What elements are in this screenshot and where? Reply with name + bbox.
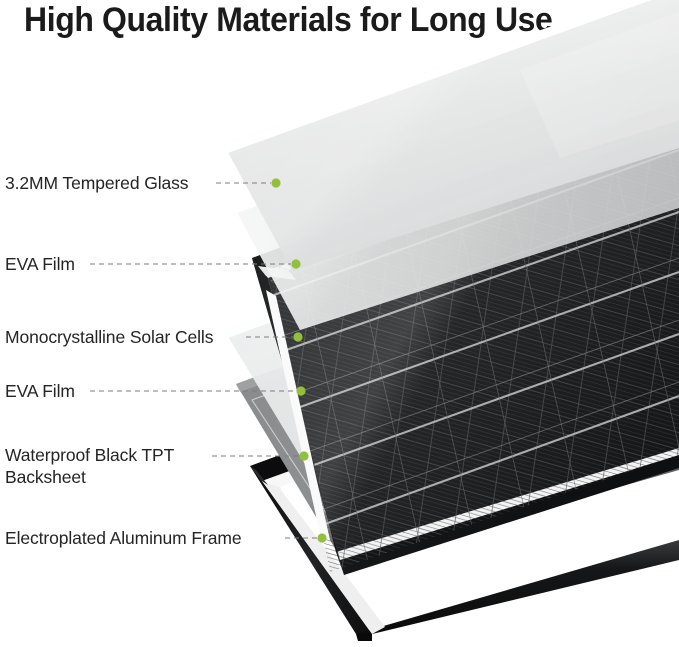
callout-label-solar-cells: Monocrystalline Solar Cells — [5, 326, 213, 348]
callout-label-tempered-glass: 3.2MM Tempered Glass — [5, 172, 188, 194]
dot-aluminum-frame — [317, 533, 326, 542]
callout-label-eva-film-bottom: EVA Film — [5, 380, 75, 402]
callout-label-tpt-backsheet: Waterproof Black TPT Backsheet — [5, 444, 215, 488]
dot-tpt-backsheet — [299, 451, 308, 460]
dot-solar-cells — [293, 332, 302, 341]
dot-eva-film-top — [291, 259, 300, 268]
dot-tempered-glass — [271, 178, 280, 187]
callout-label-aluminum-frame: Electroplated Aluminum Frame — [5, 527, 241, 549]
dot-eva-film-bottom — [296, 386, 305, 395]
product-feature-graphic: High Quality Materials for Long Use — [0, 0, 679, 647]
callout-label-eva-film-top: EVA Film — [5, 253, 75, 275]
exploded-view-illustration — [0, 0, 679, 647]
